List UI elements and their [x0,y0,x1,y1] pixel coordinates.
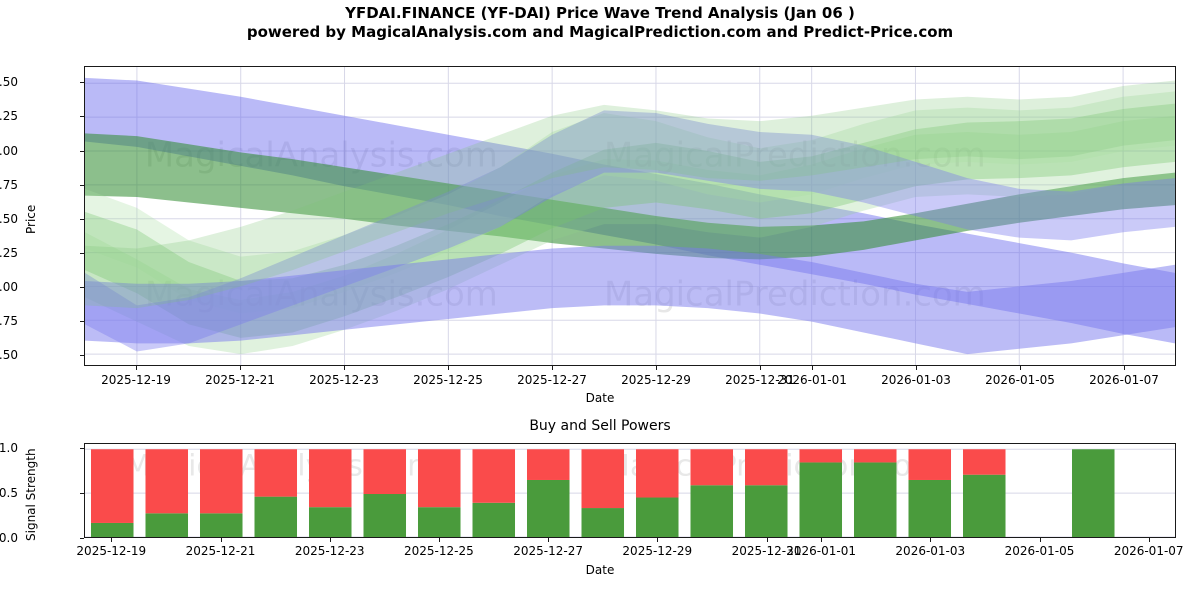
price-xtick-label: 2026-01-01 [777,373,847,387]
power-xtick-label: 2026-01-07 [1114,544,1184,558]
price-ytick-label: 9.50 [0,212,18,226]
sell-power-bar[interactable] [854,449,897,462]
power-xtick-mark [821,538,822,542]
sell-power-bar[interactable] [527,449,570,480]
buy-power-bar[interactable] [418,507,461,537]
sell-power-bar[interactable] [254,449,297,496]
power-xtick-label: 2026-01-05 [1005,544,1075,558]
power-x-axis-title: Date [0,563,1200,577]
price-xtick-mark [136,366,137,370]
price-xtick-label: 2026-01-05 [985,373,1055,387]
price-xtick-mark [1020,366,1021,370]
buy-power-bar[interactable] [363,494,406,537]
price-xtick-label: 2025-12-25 [413,373,483,387]
buy-power-bar[interactable] [745,485,788,537]
buy-power-bar[interactable] [91,523,134,537]
price-xtick-mark [916,366,917,370]
buy-power-bar[interactable] [145,513,188,537]
price-xtick-mark [552,366,553,370]
sell-power-bar[interactable] [690,449,733,485]
power-xtick-mark [439,538,440,542]
price-ytick-mark [80,355,84,356]
power-ytick-mark [80,448,84,449]
sell-power-bar[interactable] [963,449,1006,474]
price-xtick-label: 2026-01-07 [1089,373,1159,387]
buy-power-bar[interactable] [636,498,679,537]
price-ytick-mark [80,321,84,322]
buy-sell-title: Buy and Sell Powers [0,418,1200,434]
sell-power-bar[interactable] [418,449,461,507]
sell-power-bar[interactable] [91,449,134,523]
sell-power-bar[interactable] [581,449,624,508]
power-ytick-mark [80,538,84,539]
sell-power-bar[interactable] [200,449,243,513]
power-xtick-mark [111,538,112,542]
price-xtick-mark [760,366,761,370]
sell-power-bar[interactable] [908,449,951,480]
price-ytick-label: 8.50 [0,348,18,362]
sell-power-bar[interactable] [145,449,188,513]
power-xtick-mark [330,538,331,542]
buy-power-bar[interactable] [690,485,733,537]
power-xtick-label: 2025-12-25 [404,544,474,558]
price-ytick-label: 9.75 [0,178,18,192]
price-ytick-mark [80,116,84,117]
price-ytick-mark [80,287,84,288]
power-xtick-mark [548,538,549,542]
buy-sell-plot: MagicalAnalysis.comMagicalPrediction.com [85,444,1175,537]
price-xtick-mark [344,366,345,370]
price-x-axis-title: Date [0,391,1200,405]
price-ytick-label: 10.25 [0,109,18,123]
power-xtick-mark [930,538,931,542]
power-ytick-label: 0.5 [0,486,18,500]
page-title-line2: powered by MagicalAnalysis.com and Magic… [0,23,1200,42]
buy-power-bar[interactable] [1072,449,1115,537]
power-xtick-mark [1149,538,1150,542]
buy-power-bar[interactable] [963,475,1006,537]
price-ytick-mark [80,219,84,220]
power-xtick-label: 2026-01-01 [786,544,856,558]
price-wave-chart[interactable]: MagicalAnalysis.comMagicalPrediction.com… [84,66,1176,366]
buy-power-bar[interactable] [908,480,951,537]
price-xtick-mark [240,366,241,370]
price-xtick-label: 2025-12-27 [517,373,587,387]
power-xtick-label: 2026-01-03 [895,544,965,558]
power-xtick-label: 2025-12-23 [295,544,365,558]
power-xtick-mark [1040,538,1041,542]
price-ytick-label: 8.75 [0,314,18,328]
power-xtick-label: 2025-12-29 [622,544,692,558]
power-xtick-mark [657,538,658,542]
price-wave-plot: MagicalAnalysis.comMagicalPrediction.com… [85,67,1175,365]
buy-power-bar[interactable] [854,462,897,537]
price-ytick-label: 10.00 [0,144,18,158]
price-ytick-mark [80,253,84,254]
price-ytick-label: 10.50 [0,75,18,89]
price-xtick-label: 2025-12-21 [205,373,275,387]
buy-power-bar[interactable] [309,507,352,537]
power-ytick-label: 1.0 [0,441,18,455]
price-xtick-mark [812,366,813,370]
sell-power-bar[interactable] [309,449,352,507]
sell-power-bar[interactable] [799,449,842,462]
buy-power-bar[interactable] [472,503,515,537]
price-ytick-mark [80,151,84,152]
buy-power-bar[interactable] [254,497,297,537]
power-xtick-label: 2025-12-21 [186,544,256,558]
price-ytick-label: 9.00 [0,280,18,294]
price-xtick-mark [1124,366,1125,370]
buy-power-bar[interactable] [200,513,243,537]
price-xtick-label: 2026-01-03 [881,373,951,387]
price-xtick-label: 2025-12-19 [101,373,171,387]
power-y-axis-title: Signal Strength [24,448,38,541]
buy-power-bar[interactable] [799,462,842,537]
price-ytick-mark [80,82,84,83]
power-xtick-label: 2025-12-27 [513,544,583,558]
power-xtick-label: 2025-12-19 [76,544,146,558]
price-xtick-label: 2025-12-23 [309,373,379,387]
power-xtick-mark [767,538,768,542]
chart-title-block: YFDAI.FINANCE (YF-DAI) Price Wave Trend … [0,4,1200,42]
sell-power-bar[interactable] [363,449,406,494]
sell-power-bar[interactable] [636,449,679,497]
sell-power-bar[interactable] [745,449,788,485]
price-xtick-mark [656,366,657,370]
price-xtick-label: 2025-12-29 [621,373,691,387]
price-ytick-mark [80,185,84,186]
price-ytick-label: 9.25 [0,246,18,260]
buy-power-bar[interactable] [581,508,624,537]
power-xtick-mark [221,538,222,542]
power-ytick-label: 0.0 [0,531,18,545]
sell-power-bar[interactable] [472,449,515,503]
price-xtick-mark [448,366,449,370]
buy-sell-chart[interactable]: MagicalAnalysis.comMagicalPrediction.com [84,443,1176,538]
power-ytick-mark [80,493,84,494]
buy-power-bar[interactable] [527,480,570,537]
price-y-axis-title: Price [24,205,38,234]
page-title-line1: YFDAI.FINANCE (YF-DAI) Price Wave Trend … [0,4,1200,23]
